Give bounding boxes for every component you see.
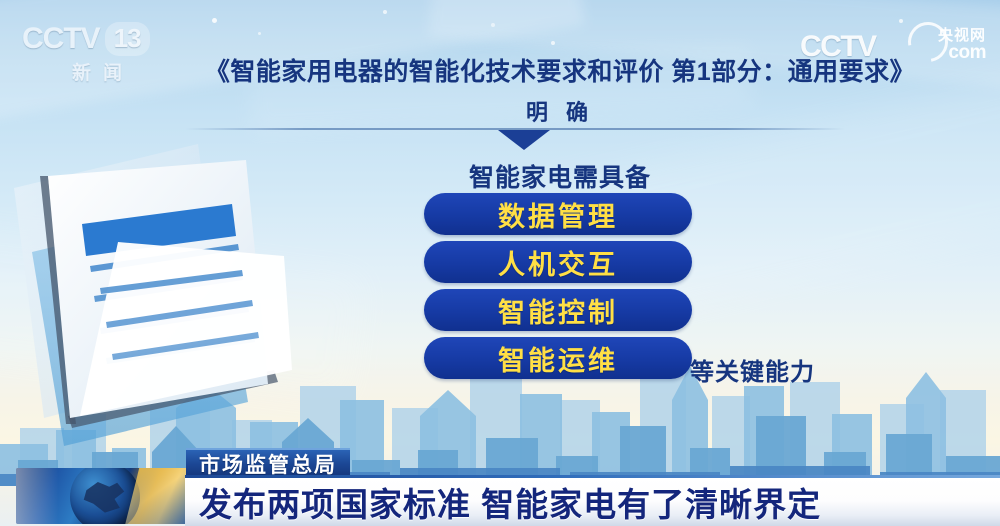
sparkle-dot bbox=[212, 18, 217, 23]
lower-third: 市场监管总局 发布两项国家标准 智能家电有了清晰界定 bbox=[0, 436, 1000, 526]
requirements-intro: 智能家电需具备 bbox=[380, 158, 740, 194]
requirement-pill[interactable]: 智能运维 bbox=[424, 337, 692, 379]
sparkle-dot bbox=[258, 32, 261, 35]
headline-bar: 发布两项国家标准 智能家电有了清晰界定 bbox=[185, 478, 1000, 526]
requirements-list: 数据管理 人机交互 智能控制 智能运维 bbox=[424, 193, 694, 385]
standard-title-block: 《智能家用电器的智能化技术要求和评价 第1部分：通用要求》 明 确 bbox=[180, 58, 940, 127]
broadcast-frame: CCTV 13 新闻 CCTV 央视网 com bbox=[0, 0, 1000, 526]
channel-number: 13 bbox=[105, 22, 150, 56]
channel-name: 新闻 bbox=[22, 58, 172, 85]
requirement-pill[interactable]: 智能控制 bbox=[424, 289, 692, 331]
requirement-pill[interactable]: 人机交互 bbox=[424, 241, 692, 283]
headline-text: 发布两项国家标准 智能家电有了清晰界定 bbox=[199, 478, 821, 526]
agency-badge: 市场监管总局 bbox=[186, 448, 350, 478]
news-globe-icon bbox=[16, 468, 188, 524]
sparkle-dot bbox=[383, 10, 387, 14]
triangle-down-icon bbox=[498, 130, 550, 150]
cctv-wordmark: CCTV bbox=[22, 22, 100, 56]
requirements-suffix: 等关键能力 bbox=[690, 352, 815, 387]
stacked-documents-icon bbox=[2, 132, 302, 452]
sparkle-dot bbox=[551, 41, 555, 45]
requirement-pill[interactable]: 数据管理 bbox=[424, 193, 692, 235]
sparkle-dot bbox=[491, 23, 495, 27]
requirement-label: 智能运维 bbox=[498, 339, 618, 378]
requirement-label: 智能控制 bbox=[498, 291, 618, 330]
cctvcom-suffix: com bbox=[948, 42, 986, 64]
requirement-label: 人机交互 bbox=[498, 243, 618, 282]
standard-title: 《智能家用电器的智能化技术要求和评价 第1部分：通用要求》 bbox=[180, 58, 940, 88]
requirement-label: 数据管理 bbox=[498, 195, 618, 234]
cctv13-logo: CCTV 13 新闻 bbox=[22, 22, 172, 84]
standard-subtitle: 明 确 bbox=[180, 95, 940, 127]
